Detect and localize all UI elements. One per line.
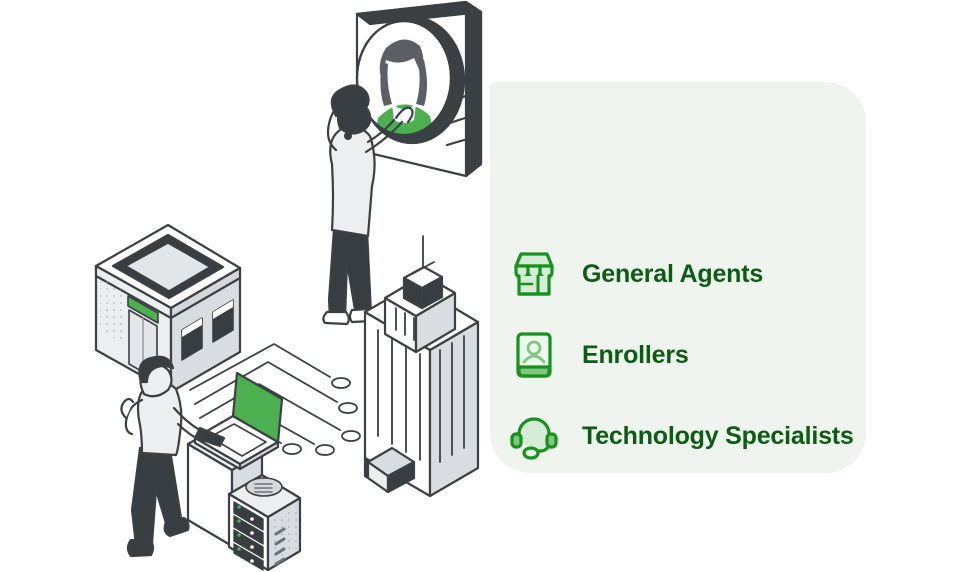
list-item-label: Technology Specialists bbox=[582, 424, 854, 449]
list-item-enrollers[interactable]: Enrollers bbox=[508, 327, 689, 383]
list-item-technology-specialists[interactable]: Technology Specialists bbox=[508, 408, 854, 464]
headset-icon bbox=[508, 410, 560, 462]
list-item-label: Enrollers bbox=[582, 343, 689, 368]
id-badge-person-icon bbox=[508, 329, 560, 381]
feature-list-panel: General Agents Enrollers bbox=[490, 82, 866, 473]
list-item-label: General Agents bbox=[582, 262, 763, 287]
illustration-with-feature-list: General Agents Enrollers bbox=[0, 0, 954, 572]
list-item-general-agents[interactable]: General Agents bbox=[508, 246, 763, 302]
profile-screen-panel bbox=[357, 2, 481, 176]
man-at-podium-with-laptop bbox=[121, 357, 300, 570]
office-tower-building bbox=[365, 236, 478, 496]
storefront-icon bbox=[508, 248, 560, 300]
feature-list: General Agents Enrollers bbox=[490, 82, 866, 473]
